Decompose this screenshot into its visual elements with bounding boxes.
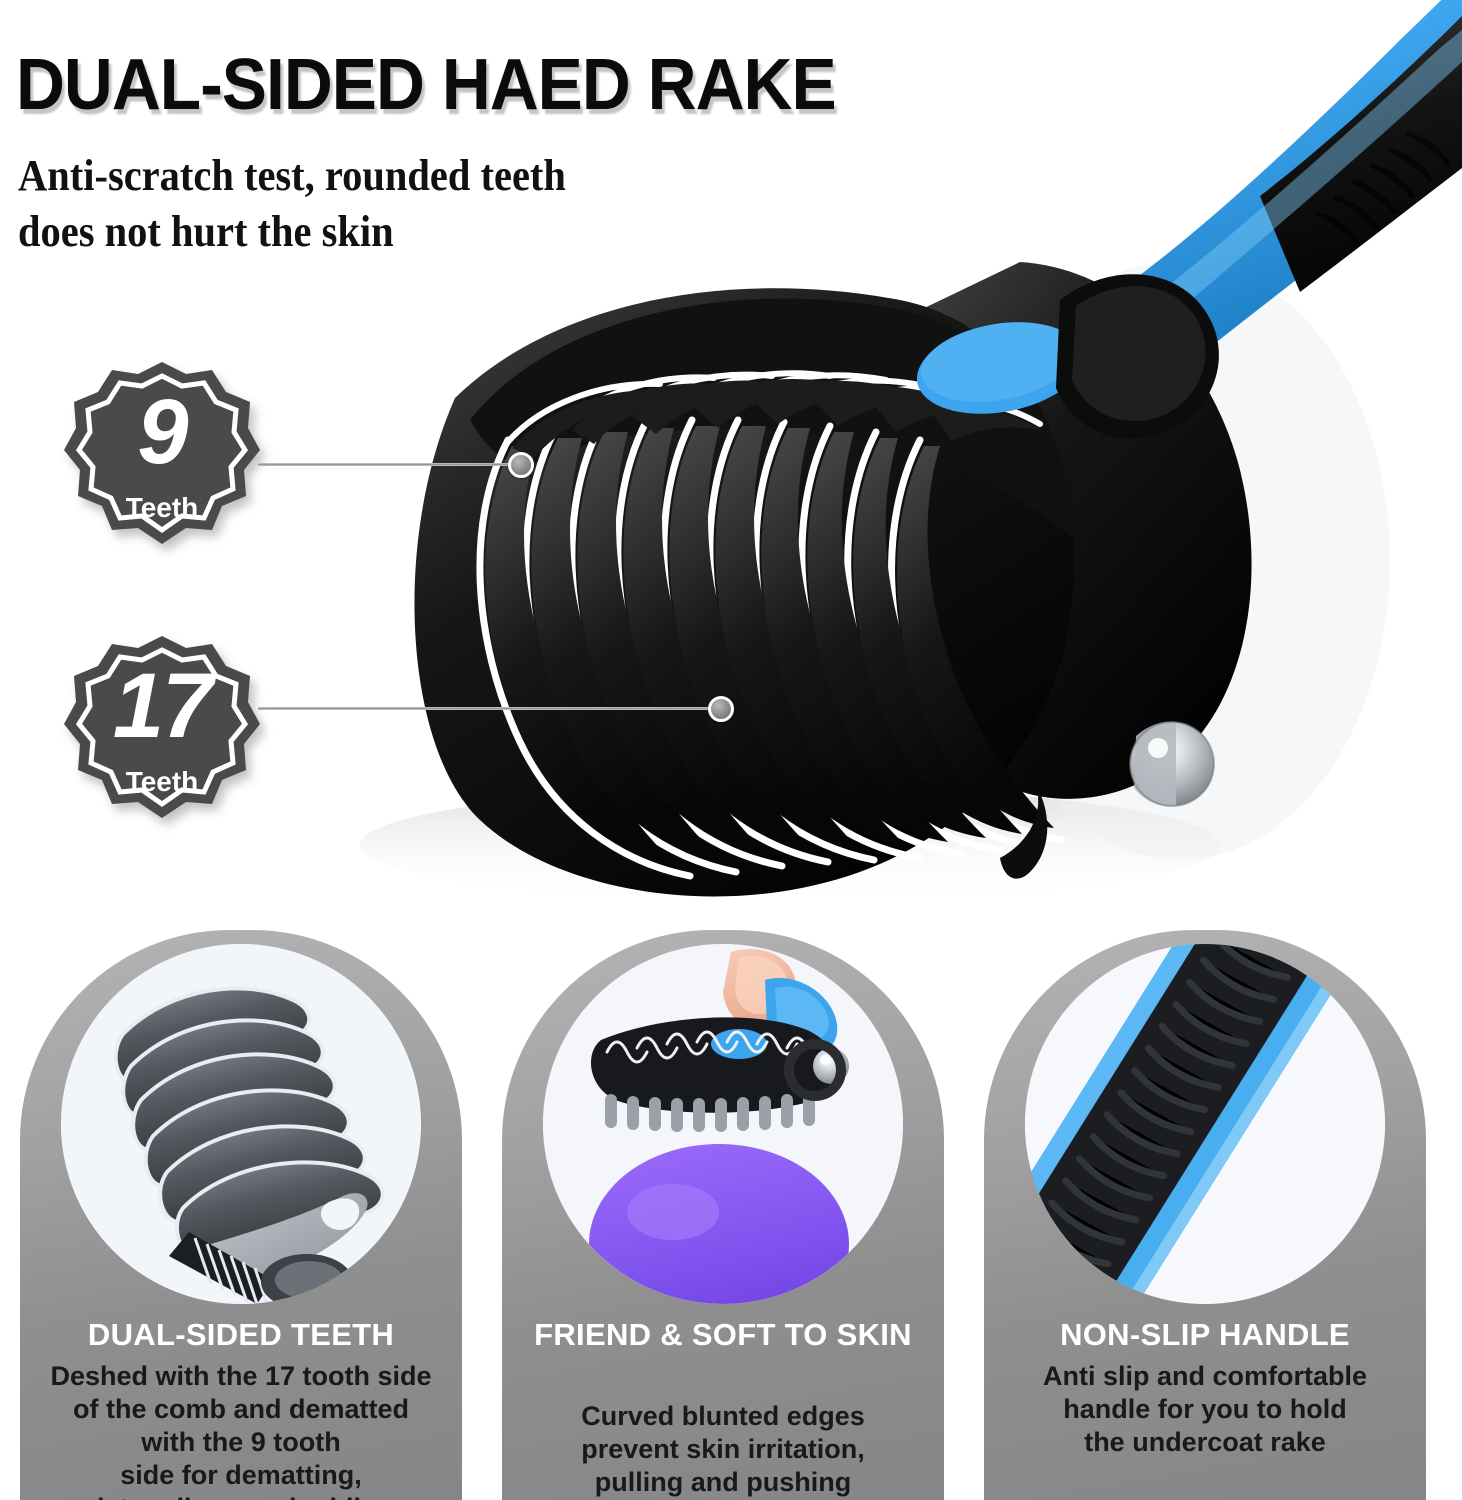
callout-line-9-teeth (258, 452, 538, 478)
subtitle-line-1: Anti-scratch test, rounded teeth (18, 150, 566, 201)
badge-caption: Teeth (62, 492, 262, 524)
card-title: DUAL-SIDED TEETH (30, 1316, 452, 1354)
badge-17-teeth: 17 Teeth (62, 632, 262, 832)
ribbed-handle-closeup-photo (1025, 944, 1385, 1304)
callout-line-17-teeth (258, 696, 738, 722)
subtitle-line-2: does not hurt the skin (18, 206, 394, 257)
feature-cards: DUAL-SIDED TEETH Deshed with the 17 toot… (0, 930, 1462, 1500)
callout-dot (708, 696, 734, 722)
callout-line (258, 463, 514, 466)
card-body: Anti slip and comfortable handle for you… (992, 1360, 1418, 1459)
card-body: Curved blunted edges prevent skin irrita… (510, 1400, 936, 1499)
feature-card-non-slip-handle: NON-SLIP HANDLE Anti slip and comfortabl… (984, 930, 1426, 1500)
badge-number: 9 (62, 386, 262, 478)
feature-card-dual-sided-teeth: DUAL-SIDED TEETH Deshed with the 17 toot… (20, 930, 462, 1500)
badge-9-teeth: 9 Teeth (62, 358, 262, 558)
rake-on-balloon-photo (543, 944, 903, 1304)
feature-card-friend-soft-to-skin: FRIEND & SOFT TO SKIN Curved blunted edg… (502, 930, 944, 1500)
product-infographic: DUAL-SIDED HAED RAKE Anti-scratch test, … (0, 0, 1462, 1500)
rake-teeth-closeup-photo (61, 944, 421, 1304)
card-title: FRIEND & SOFT TO SKIN (512, 1316, 934, 1354)
badge-caption: Teeth (62, 766, 262, 798)
card-title: NON-SLIP HANDLE (994, 1316, 1416, 1354)
callout-line (258, 707, 714, 710)
page-title: DUAL-SIDED HAED RAKE (16, 44, 836, 126)
badge-number: 17 (62, 660, 262, 752)
callout-dot (508, 452, 534, 478)
card-body: Deshed with the 17 tooth side of the com… (28, 1360, 454, 1500)
